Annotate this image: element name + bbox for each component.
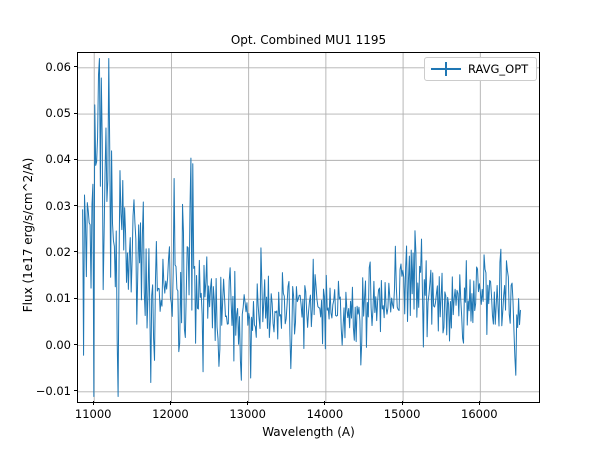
y-axis-tick-label: −0.01 (11, 384, 71, 398)
y-axis-tick-label: 0.03 (11, 199, 71, 213)
y-axis-label: Flux (1e17 erg/s/cm^2/A) (21, 115, 35, 355)
y-axis-tick-label: 0.06 (11, 60, 71, 74)
y-axis-tick-label: 0.01 (11, 291, 71, 305)
page-title: Opt. Combined MU1 1195 (77, 33, 540, 47)
x-axis-tick-label: 16000 (461, 407, 498, 421)
plot-axes (77, 52, 540, 403)
y-axis-tick-label: 0.04 (11, 152, 71, 166)
y-axis-tick-label: 0.00 (11, 338, 71, 352)
x-axis-tick-label: 13000 (229, 407, 266, 421)
spectrum-line-series (78, 53, 539, 402)
legend-entry-label: RAVG_OPT (468, 62, 528, 76)
legend-box[interactable]: RAVG_OPT (424, 57, 537, 81)
y-axis-tick-label: 0.05 (11, 106, 71, 120)
x-axis-label: Wavelength (A) (77, 425, 540, 439)
x-axis-tick-label: 14000 (307, 407, 344, 421)
y-axis-tick-label: 0.02 (11, 245, 71, 259)
x-axis-tick-label: 11000 (75, 407, 112, 421)
x-axis-tick-label: 12000 (152, 407, 189, 421)
figure-canvas: Opt. Combined MU1 1195 −0.010.000.010.02… (0, 0, 600, 450)
errorbar-plus-icon (431, 62, 461, 76)
spectrum-path (83, 59, 521, 397)
x-axis-tick-label: 15000 (384, 407, 421, 421)
